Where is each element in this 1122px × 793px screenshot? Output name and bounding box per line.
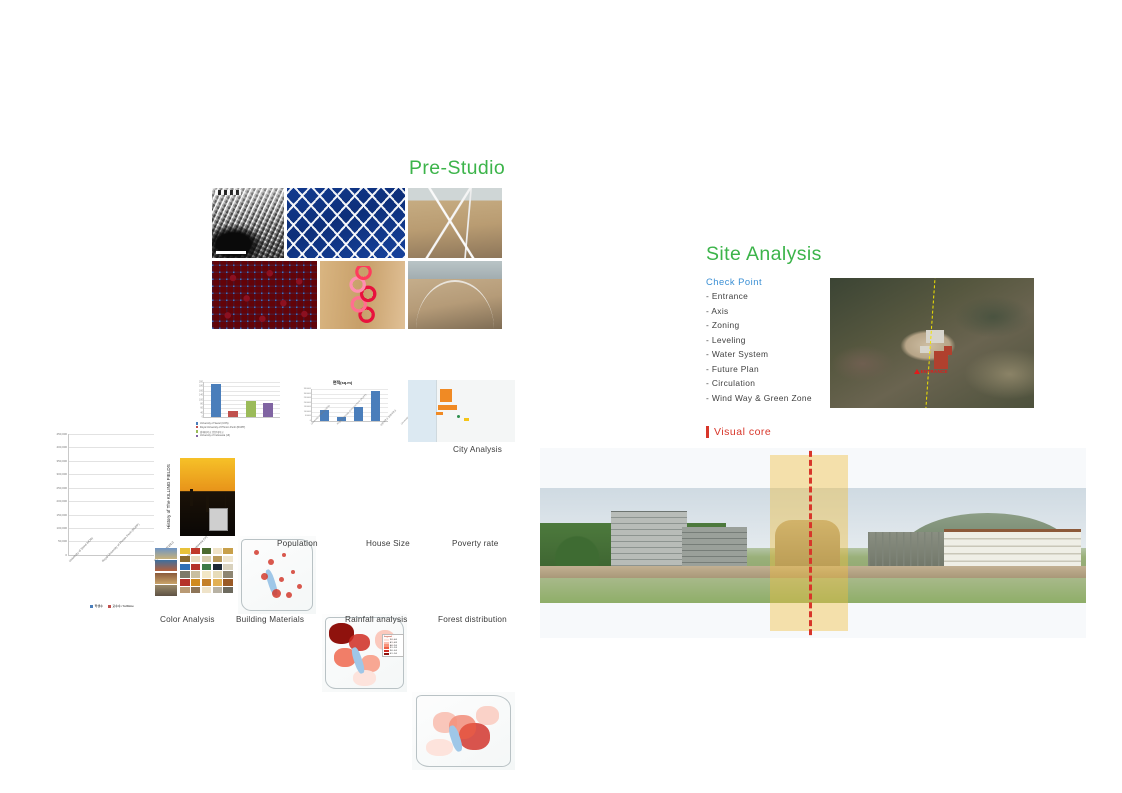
y-tick: 300,000 [57,472,67,476]
check-item-zoning: - Zoning [706,321,836,329]
chart-title: 면적(sq.m) [295,380,390,386]
color-analysis [155,548,233,610]
caption-population: Population [277,540,318,548]
caption-house-size: House Size [366,540,410,548]
chart-bars [69,434,154,555]
image-blue-net [287,188,405,258]
y-tick: 0 [65,553,67,557]
legend-bin: 5.6 - 6.0 [390,650,397,652]
site-panorama [540,448,1086,638]
caption-forest-distribution: Forest distribution [438,616,507,624]
check-item-axis: - Axis [706,307,836,315]
check-point-label: Check Point [706,276,762,287]
check-item-future-plan: - Future Plan [706,365,836,373]
entrance-marker: ENTRANCE [914,369,948,374]
site-aerial-photo: ENTRANCE [830,278,1034,408]
y-tick: 250,000 [57,486,67,490]
student-faculty-bar-chart: 450,000 400,000 350,000 300,000 250,000 … [44,428,156,618]
legend-label: 교수수 / fulltime [112,604,133,608]
caption-killing-fields: History of The KILLING FIELDS [166,458,171,536]
chart-legend: University of Seoul (UOS) Royal Universi… [196,422,245,437]
color-reference-thumbs [155,548,177,610]
image-cell-tissue [212,261,317,329]
visual-core-axis-line [809,448,812,638]
university-comparison-chart: 200 180 160 140 100 80 60 40 0 Universit… [194,380,282,442]
swatch-row [180,587,233,593]
swatch-row [180,564,233,570]
check-item-water-system: - Water System [706,350,836,358]
check-point-list: - Entrance - Axis - Zoning - Leveling - … [706,292,836,408]
chart-x-labels: University of Seoul (UOS) Royal Universi… [68,560,154,564]
site-analysis-title: Site Analysis [706,243,822,266]
image-sem-micrograph [212,188,284,258]
y-tick: 200,000 [57,499,67,503]
visual-core-tick-icon [706,426,709,438]
city-analysis-map [408,380,515,442]
legend-label: University of Indonesia (UI) [200,434,230,437]
y-tick: 50,000 [58,539,67,543]
chart-plot-area: 200 180 160 140 100 80 60 40 0 [203,382,280,418]
image-rod-model [408,188,502,258]
legend-bin: 6.1 - 9.0 [390,653,397,655]
caption-city-analysis: City Analysis [453,446,502,454]
legend-label: 경제대학교 인문대학교 [200,430,224,434]
y-tick: 350,000 [57,459,67,463]
image-arc-model [408,261,502,329]
pre-studio-image-grid [212,188,502,339]
swatch-row [180,548,233,554]
y-tick: 150,000 [57,513,67,517]
chart-bars [204,382,280,417]
entrance-arrow-icon [914,369,920,374]
y-tick: 400,000 [57,445,67,449]
site-axis-line [925,278,935,408]
legend-label: University of Seoul (UOS) [200,422,229,425]
legend-label: Royal University of Phnom Penh (RUPP) [200,426,245,429]
entrance-label: ENTRANCE [921,369,948,374]
legend-bin: 3.0 - 4.0 [390,639,397,641]
poverty-rate-map [412,692,515,770]
chart-x-labels: University of Seoul (UOS) Royal Universi… [311,424,388,428]
y-tick: 100,000 [57,526,67,530]
swatch-row [180,579,233,585]
pre-studio-title: Pre-Studio [409,157,505,180]
check-item-leveling: - Leveling [706,336,836,344]
chart-plot-area: 450,000 400,000 350,000 300,000 250,000 … [68,434,154,556]
legend-bin: 5.1 - 5.5 [390,647,397,649]
y-tick: 450,000 [57,432,67,436]
check-item-wind-way: - Wind Way & Green Zone [706,394,836,402]
image-pink-knots [320,261,405,329]
chart-legend: 학생수 교수수 / fulltime [68,604,156,608]
check-item-circulation: - Circulation [706,379,836,387]
caption-poverty-rate: Poverty rate [452,540,499,548]
legend-bin: 4.6 - 5.0 [390,645,397,647]
swatch-row [180,571,233,577]
map-legend: Legend 3.0 - 4.0 4.1 - 4.5 4.6 - 5.0 5.1… [382,634,404,657]
house-size-map: Legend 3.0 - 4.0 4.1 - 4.5 4.6 - 5.0 5.1… [322,614,407,692]
caption-rainfall-analysis: Rainfall analysis [345,616,408,624]
legend-label: 학생수 [95,604,103,608]
check-item-entrance: - Entrance [706,292,836,300]
area-sqm-chart: 면적(sq.m) 350000 300000 250000 200000 150… [295,380,390,442]
presentation-board: Pre-Studio 450,000 400,000 350,000 300,0… [0,0,1122,793]
visual-core-label: Visual core [706,426,771,438]
caption-color-analysis: Color Analysis [160,616,215,624]
legend-bin: 4.1 - 4.5 [390,642,397,644]
killing-fields-poster [180,458,235,536]
caption-building-materials: Building Materials [236,616,304,624]
swatch-row [180,556,233,562]
